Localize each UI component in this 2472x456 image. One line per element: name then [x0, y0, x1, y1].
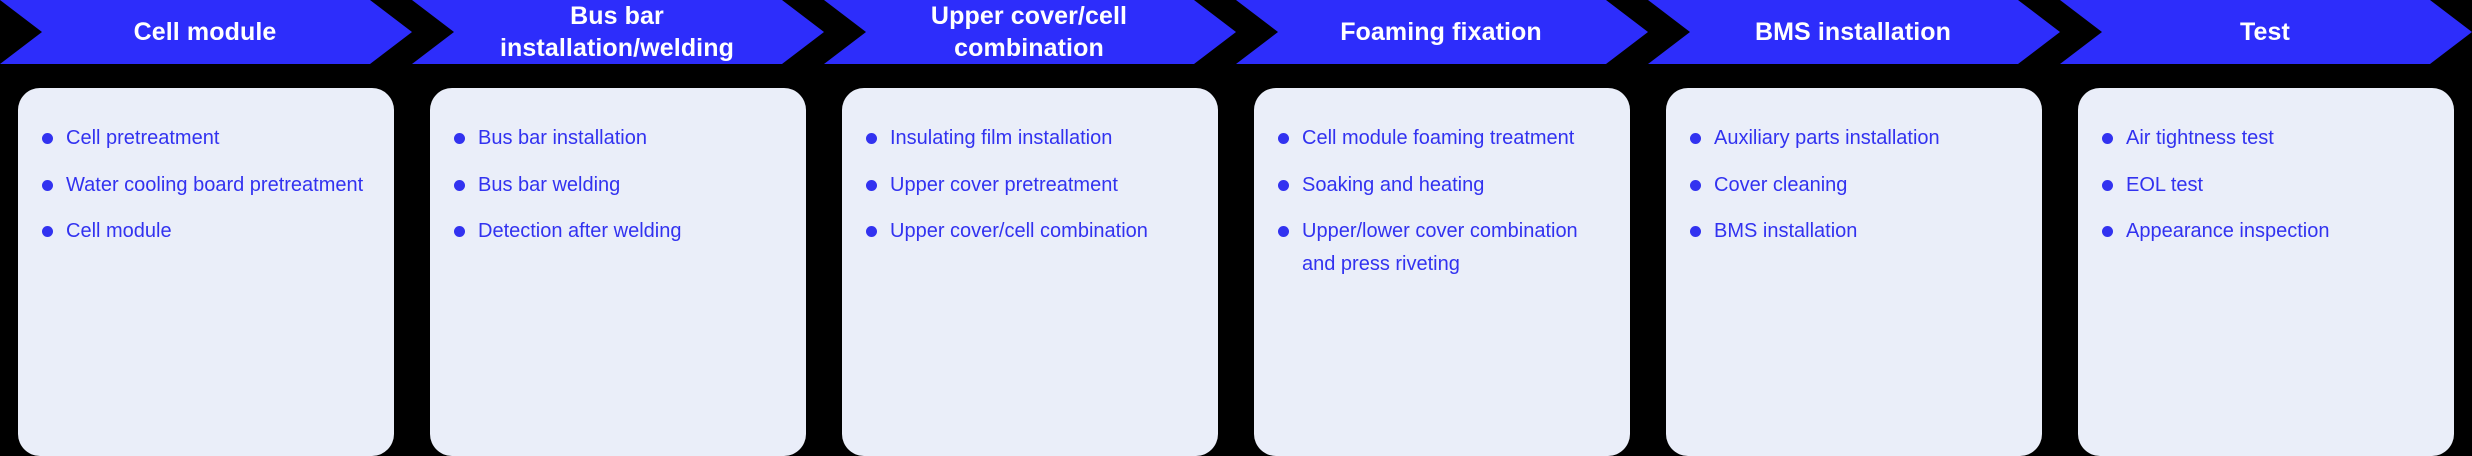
- list-item-label: Cover cleaning: [1714, 169, 2018, 202]
- stage-card-3: Insulating film installation Upper cover…: [842, 88, 1218, 456]
- stage-card-2: Bus bar installation Bus bar welding Det…: [430, 88, 806, 456]
- bullet-dot-icon: [1278, 226, 1289, 237]
- bullet-dot-icon: [2102, 133, 2113, 144]
- list-item-label: Bus bar installation: [478, 122, 782, 155]
- stage-list-3: Insulating film installation Upper cover…: [866, 122, 1194, 248]
- list-item: Water cooling board pretreatment: [42, 169, 370, 202]
- list-item-label: Cell module: [66, 215, 370, 248]
- list-item: Cell module: [42, 215, 370, 248]
- list-item-label: Cell pretreatment: [66, 122, 370, 155]
- list-item-label: Upper cover pretreatment: [890, 169, 1194, 202]
- stage-header-chevron-5[interactable]: BMS installation: [1648, 0, 2060, 64]
- bullet-dot-icon: [42, 226, 53, 237]
- list-item: Upper/lower cover combination and press …: [1278, 215, 1606, 280]
- stage-list-4: Cell module foaming treatment Soaking an…: [1278, 122, 1606, 280]
- list-item-label: Soaking and heating: [1302, 169, 1606, 202]
- list-item-label: Upper cover/cell combination: [890, 215, 1194, 248]
- stage-title-5: BMS installation: [1755, 16, 1951, 48]
- stage-card-1: Cell pretreatment Water cooling board pr…: [18, 88, 394, 456]
- flow-stage-foaming-fixation[interactable]: Foaming fixation Cell module foaming tre…: [1236, 0, 1648, 456]
- stage-header-chevron-6[interactable]: Test: [2060, 0, 2472, 64]
- list-item: Cover cleaning: [1690, 169, 2018, 202]
- bullet-dot-icon: [866, 226, 877, 237]
- stage-list-1: Cell pretreatment Water cooling board pr…: [42, 122, 370, 248]
- process-flow-diagram: Cell module Cell pretreatment Water cool…: [0, 0, 2472, 456]
- flow-stage-bus-bar-installation-welding[interactable]: Bus bar installation/welding Bus bar ins…: [412, 0, 824, 456]
- list-item: Soaking and heating: [1278, 169, 1606, 202]
- stage-card-6: Air tightness test EOL test Appearance i…: [2078, 88, 2454, 456]
- list-item: Cell module foaming treatment: [1278, 122, 1606, 155]
- stage-title-2: Bus bar installation/welding: [500, 0, 734, 64]
- stage-title-1: Cell module: [134, 16, 277, 48]
- list-item-label: Insulating film installation: [890, 122, 1194, 155]
- stage-header-chevron-4[interactable]: Foaming fixation: [1236, 0, 1648, 64]
- list-item: Cell pretreatment: [42, 122, 370, 155]
- list-item: EOL test: [2102, 169, 2430, 202]
- list-item: Bus bar welding: [454, 169, 782, 202]
- bullet-dot-icon: [454, 133, 465, 144]
- bullet-dot-icon: [454, 226, 465, 237]
- stage-title-6: Test: [2240, 16, 2290, 48]
- list-item: Insulating film installation: [866, 122, 1194, 155]
- list-item-label: Cell module foaming treatment: [1302, 122, 1606, 155]
- stage-card-5: Auxiliary parts installation Cover clean…: [1666, 88, 2042, 456]
- stage-header-chevron-2[interactable]: Bus bar installation/welding: [412, 0, 824, 64]
- list-item: Appearance inspection: [2102, 215, 2430, 248]
- flow-stage-cell-module[interactable]: Cell module Cell pretreatment Water cool…: [0, 0, 412, 456]
- list-item: BMS installation: [1690, 215, 2018, 248]
- bullet-dot-icon: [2102, 226, 2113, 237]
- bullet-dot-icon: [1690, 133, 1701, 144]
- stage-list-6: Air tightness test EOL test Appearance i…: [2102, 122, 2430, 248]
- stage-card-4: Cell module foaming treatment Soaking an…: [1254, 88, 1630, 456]
- list-item: Air tightness test: [2102, 122, 2430, 155]
- list-item: Bus bar installation: [454, 122, 782, 155]
- list-item: Upper cover pretreatment: [866, 169, 1194, 202]
- list-item-label: Upper/lower cover combination and press …: [1302, 215, 1606, 280]
- stage-title-4: Foaming fixation: [1340, 16, 1542, 48]
- list-item-label: Air tightness test: [2126, 122, 2430, 155]
- list-item-label: Water cooling board pretreatment: [66, 169, 370, 202]
- bullet-dot-icon: [42, 180, 53, 191]
- bullet-dot-icon: [1278, 133, 1289, 144]
- list-item-label: BMS installation: [1714, 215, 2018, 248]
- list-item-label: Appearance inspection: [2126, 215, 2430, 248]
- bullet-dot-icon: [2102, 180, 2113, 191]
- list-item-label: Auxiliary parts installation: [1714, 122, 2018, 155]
- bullet-dot-icon: [42, 133, 53, 144]
- bullet-dot-icon: [1278, 180, 1289, 191]
- flow-stage-upper-cover-cell-combination[interactable]: Upper cover/cell combination Insulating …: [824, 0, 1236, 456]
- list-item-label: EOL test: [2126, 169, 2430, 202]
- list-item: Detection after welding: [454, 215, 782, 248]
- list-item-label: Bus bar welding: [478, 169, 782, 202]
- stage-header-chevron-3[interactable]: Upper cover/cell combination: [824, 0, 1236, 64]
- flow-stage-test[interactable]: Test Air tightness test EOL test Appeara…: [2060, 0, 2472, 456]
- flow-stage-bms-installation[interactable]: BMS installation Auxiliary parts install…: [1648, 0, 2060, 456]
- bullet-dot-icon: [1690, 226, 1701, 237]
- list-item-label: Detection after welding: [478, 215, 782, 248]
- stage-header-chevron-1[interactable]: Cell module: [0, 0, 412, 64]
- list-item: Upper cover/cell combination: [866, 215, 1194, 248]
- stage-list-5: Auxiliary parts installation Cover clean…: [1690, 122, 2018, 248]
- stage-title-3: Upper cover/cell combination: [931, 0, 1127, 64]
- list-item: Auxiliary parts installation: [1690, 122, 2018, 155]
- bullet-dot-icon: [1690, 180, 1701, 191]
- flow-stage-track: Cell module Cell pretreatment Water cool…: [0, 0, 2472, 456]
- bullet-dot-icon: [866, 180, 877, 191]
- bullet-dot-icon: [454, 180, 465, 191]
- stage-list-2: Bus bar installation Bus bar welding Det…: [454, 122, 782, 248]
- bullet-dot-icon: [866, 133, 877, 144]
